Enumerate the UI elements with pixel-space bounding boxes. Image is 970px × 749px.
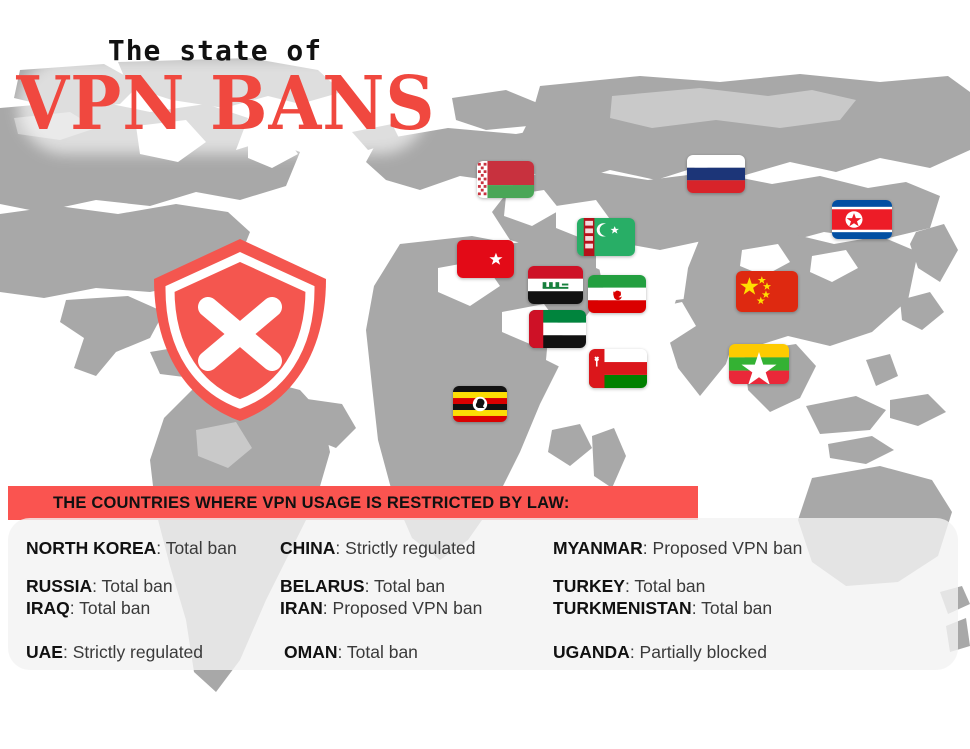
- flag-oman: [589, 349, 647, 388]
- country-name: TURKEY: [553, 576, 625, 596]
- country-sep: :: [337, 642, 346, 662]
- country-sep: :: [156, 538, 165, 558]
- flag-turkey: [457, 240, 514, 278]
- country-status: Total ban: [701, 598, 772, 618]
- title-block: The state of VPN BANS: [0, 10, 480, 160]
- country-status: Total ban: [347, 642, 418, 662]
- country-sep: :: [323, 598, 333, 618]
- list-item: CHINA: Strictly regulated: [280, 538, 476, 559]
- country-sep: :: [70, 598, 79, 618]
- page-title: VPN BANS: [16, 67, 393, 141]
- country-sep: :: [92, 576, 101, 596]
- shield-x-icon: [150, 235, 330, 425]
- country-name: RUSSIA: [26, 576, 92, 596]
- list-item: UAE: Strictly regulated: [26, 642, 203, 663]
- flag-uganda: [453, 386, 507, 422]
- country-status: Total ban: [79, 598, 150, 618]
- list-item: IRAQ: Total ban: [26, 598, 150, 619]
- country-sep: :: [630, 642, 640, 662]
- country-sep: :: [692, 598, 701, 618]
- list-item: OMAN: Total ban: [284, 642, 418, 663]
- list-item: RUSSIA: Total ban: [26, 576, 173, 597]
- country-name: NORTH KOREA: [26, 538, 156, 558]
- country-name: OMAN: [284, 642, 337, 662]
- list-item: UGANDA: Partially blocked: [553, 642, 767, 663]
- country-status: Partially blocked: [640, 642, 767, 662]
- country-name: BELARUS: [280, 576, 365, 596]
- banner-strip: THE COUNTRIES WHERE VPN USAGE IS RESTRIC…: [8, 486, 698, 520]
- flag-turkmenistan: [577, 218, 635, 256]
- list-item: TURKMENISTAN: Total ban: [553, 598, 772, 619]
- flag-iraq: [528, 266, 583, 304]
- country-name: TURKMENISTAN: [553, 598, 692, 618]
- flag-russia: [687, 155, 745, 193]
- country-status: Total ban: [166, 538, 237, 558]
- country-status: Proposed VPN ban: [333, 598, 483, 618]
- country-name: UAE: [26, 642, 63, 662]
- country-name: IRAN: [280, 598, 323, 618]
- list-item: TURKEY: Total ban: [553, 576, 705, 597]
- country-list-grid: NORTH KOREA: Total ban RUSSIA: Total ban…: [8, 518, 958, 670]
- country-sep: :: [365, 576, 374, 596]
- country-name: UGANDA: [553, 642, 630, 662]
- country-sep: :: [335, 538, 345, 558]
- list-item: NORTH KOREA: Total ban: [26, 538, 237, 559]
- list-item: IRAN: Proposed VPN ban: [280, 598, 482, 619]
- country-sep: :: [63, 642, 73, 662]
- flag-china: [736, 271, 798, 312]
- flag-belarus: [477, 161, 534, 198]
- country-name: CHINA: [280, 538, 335, 558]
- flag-myanmar: [729, 344, 789, 384]
- country-status: Proposed VPN ban: [653, 538, 803, 558]
- country-status: Total ban: [102, 576, 173, 596]
- vpn-bans-infographic: The state of VPN BANS: [0, 0, 970, 749]
- list-item: MYANMAR: Proposed VPN ban: [553, 538, 802, 559]
- country-name: IRAQ: [26, 598, 70, 618]
- country-status: Total ban: [634, 576, 705, 596]
- flag-north-korea: [832, 200, 892, 239]
- list-item: BELARUS: Total ban: [280, 576, 445, 597]
- banner-text: THE COUNTRIES WHERE VPN USAGE IS RESTRIC…: [8, 494, 570, 513]
- country-sep: :: [625, 576, 634, 596]
- flag-uae: [529, 310, 586, 348]
- country-status: Strictly regulated: [345, 538, 475, 558]
- country-status: Total ban: [374, 576, 445, 596]
- country-name: MYANMAR: [553, 538, 643, 558]
- flag-iran: [588, 275, 646, 313]
- country-sep: :: [643, 538, 653, 558]
- country-status: Strictly regulated: [73, 642, 203, 662]
